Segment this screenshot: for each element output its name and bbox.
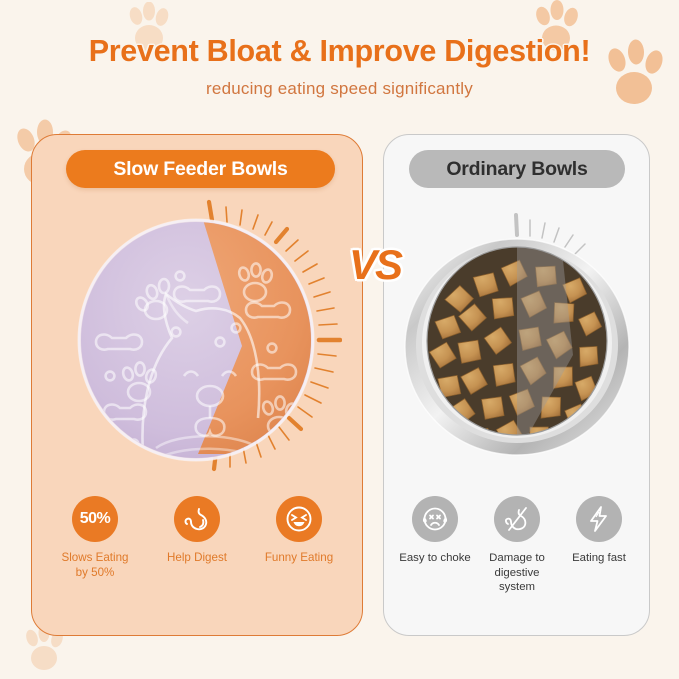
stomach-icon	[174, 496, 220, 542]
percent-badge-text: 50%	[80, 510, 111, 528]
benefit-label: Funny Eating	[265, 551, 333, 566]
benefit-label: Slows Eating by 50%	[61, 551, 128, 580]
benefit-item: 50% Slows Eating by 50%	[49, 496, 141, 580]
benefit-label-line1: Slows Eating	[61, 551, 128, 564]
choking-face-icon	[412, 496, 458, 542]
header: Prevent Bloat & Improve Digestion! reduc…	[0, 0, 679, 118]
percent-badge-icon: 50%	[72, 496, 118, 542]
ordinary-bowl-image	[398, 205, 636, 470]
lightning-bolt-icon	[576, 496, 622, 542]
benefit-label-line2: by 50%	[76, 566, 115, 579]
crossed-stomach-icon	[494, 496, 540, 542]
slow-feeder-bowl-image	[72, 196, 342, 481]
drawback-label: Damage to digestive system	[478, 551, 556, 595]
slow-feeder-benefits: 50% Slows Eating by 50% Help Digest	[44, 496, 350, 580]
drawback-label-line2: digestive system	[495, 567, 540, 594]
slow-feeder-title-pill: Slow Feeder Bowls	[66, 150, 335, 188]
drawback-label-line1: Damage to	[489, 552, 545, 564]
drawback-item: Easy to choke	[396, 496, 474, 595]
benefit-item: Help Digest	[151, 496, 243, 580]
drawback-label: Eating fast	[572, 551, 626, 566]
page-title: Prevent Bloat & Improve Digestion!	[0, 34, 679, 69]
drawback-item: Damage to digestive system	[478, 496, 556, 595]
drawback-item: Eating fast	[560, 496, 638, 595]
versus-badge: VS	[335, 237, 415, 293]
happy-face-icon	[276, 496, 322, 542]
benefit-item: Funny Eating	[253, 496, 345, 580]
ordinary-bowl-drawbacks: Easy to choke Damage to digestive system	[396, 496, 638, 595]
ordinary-bowl-title-pill: Ordinary Bowls	[409, 150, 625, 188]
infographic-canvas: Prevent Bloat & Improve Digestion! reduc…	[0, 0, 679, 679]
benefit-label: Help Digest	[167, 551, 227, 566]
drawback-label: Easy to choke	[399, 551, 471, 566]
page-subtitle: reducing eating speed significantly	[0, 79, 679, 99]
